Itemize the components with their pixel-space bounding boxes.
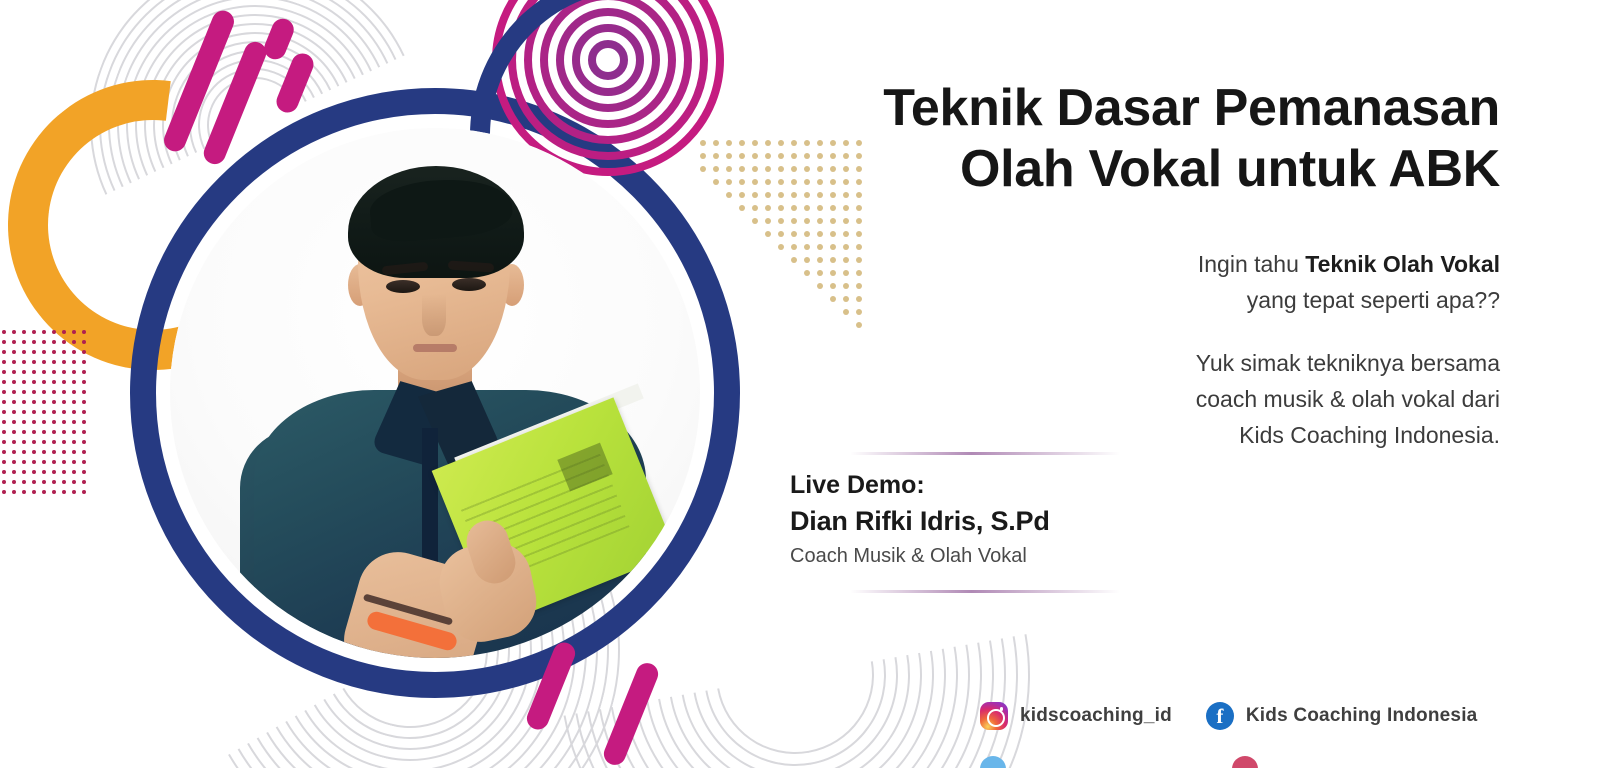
divider-bottom	[850, 590, 1120, 593]
magenta-bar-decoration	[601, 660, 662, 768]
social-links: kidscoaching_id f Kids Coaching Indonesi…	[980, 702, 1477, 730]
live-demo-label: Live Demo:	[790, 471, 1090, 500]
social-links-row-cut-off	[980, 756, 1258, 768]
live-demo-block: Live Demo: Dian Rifki Idris, S.Pd Coach …	[790, 452, 1090, 593]
speaker-role: Coach Musik & Olah Vokal	[790, 545, 1090, 568]
speaker-name: Dian Rifki Idris, S.Pd	[790, 506, 1090, 537]
poster-canvas: Teknik Dasar Pemanasan Olah Vokal untuk …	[0, 0, 1600, 768]
poster-title: Teknik Dasar Pemanasan Olah Vokal untuk …	[760, 78, 1500, 200]
instagram-icon	[980, 702, 1008, 730]
facebook-handle: Kids Coaching Indonesia	[1246, 705, 1478, 727]
telegram-icon-partial[interactable]	[980, 756, 1006, 768]
intro-line-1-plain: Ingin tahu	[1198, 251, 1305, 277]
youtube-icon-partial[interactable]	[1232, 756, 1258, 768]
body-paragraph: Yuk simak tekniknya bersama coach musik …	[1060, 345, 1500, 454]
magenta-bar-decoration	[273, 50, 317, 116]
speaker-photo	[170, 128, 700, 658]
poster-subcopy: Ingin tahu Teknik Olah Vokal yang tepat …	[1060, 246, 1500, 454]
social-facebook[interactable]: f Kids Coaching Indonesia	[1206, 702, 1478, 730]
body-line-1: Yuk simak tekniknya bersama	[1196, 350, 1500, 376]
crimson-dot-grid-decoration	[2, 330, 98, 500]
body-line-3: Kids Coaching Indonesia.	[1239, 422, 1500, 448]
body-line-2: coach musik & olah vokal dari	[1196, 386, 1500, 412]
intro-line-2: yang tepat seperti apa??	[1247, 287, 1500, 313]
facebook-icon: f	[1206, 702, 1234, 730]
instagram-handle: kidscoaching_id	[1020, 705, 1172, 727]
intro-line-1-bold: Teknik Olah Vokal	[1305, 251, 1500, 277]
intro-paragraph: Ingin tahu Teknik Olah Vokal yang tepat …	[1060, 246, 1500, 319]
poster-title-line-1: Teknik Dasar Pemanasan	[760, 78, 1500, 139]
social-instagram[interactable]: kidscoaching_id	[980, 702, 1172, 730]
divider-top	[850, 452, 1120, 455]
magenta-bar-decoration	[261, 15, 297, 62]
poster-title-line-2: Olah Vokal untuk ABK	[760, 139, 1500, 200]
